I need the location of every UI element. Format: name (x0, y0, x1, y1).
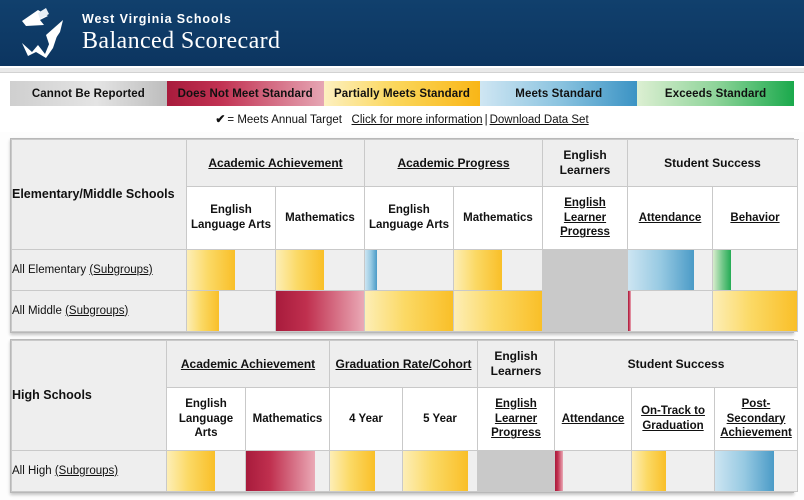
column-grad-4-year: 4 Year (330, 388, 403, 451)
cell-middle-attendance[interactable] (628, 291, 713, 332)
status-bar-partial (454, 291, 542, 331)
cell-middle-ela-progress[interactable] (365, 291, 454, 332)
checkmark-icon: ✔ (215, 112, 225, 126)
table-row: All Elementary (Subgroups) (12, 250, 798, 291)
column-math-progress: Mathematics (454, 187, 543, 250)
cell-elementary-ela-progress[interactable] (365, 250, 454, 291)
scorecard-page: West Virginia Schools Balanced Scorecard… (0, 0, 804, 500)
status-bar-partial (632, 451, 666, 491)
cell-elementary-ela-achievement[interactable] (187, 250, 276, 291)
elementary-middle-board: Elementary/Middle Schools Academic Achie… (10, 138, 794, 333)
high-schools-table: High Schools Academic Achievement Gradua… (11, 340, 798, 492)
status-bar-partial (713, 291, 797, 331)
column-english-learner-progress-hs[interactable]: English Learner Progress (478, 388, 555, 451)
status-bar-meets (628, 250, 694, 290)
status-bar-does-not-meet (555, 451, 563, 491)
column-ela-progress: English Language Arts (365, 187, 454, 250)
brand-subtitle: West Virginia Schools (82, 13, 280, 26)
legend-item-meets-standard[interactable]: Meets Standard (480, 81, 637, 106)
status-bar-does-not-meet (276, 291, 364, 331)
status-bar-partial (365, 291, 453, 331)
status-bar-meets (715, 451, 774, 491)
corner-title-high-schools: High Schools (12, 341, 167, 451)
cell-middle-english-learner-progress[interactable] (543, 291, 628, 332)
status-bar-exceeds (713, 250, 731, 290)
status-bar-meets (365, 250, 377, 290)
corner-title-elementary-middle: Elementary/Middle Schools (12, 140, 187, 250)
row-label-all-elementary: All Elementary (Subgroups) (12, 250, 187, 291)
cell-high-post-secondary-achievement[interactable] (715, 451, 798, 492)
group-academic-achievement[interactable]: Academic Achievement (187, 140, 365, 187)
row-label-all-high: All High (Subgroups) (12, 451, 167, 492)
download-data-set-link[interactable]: Download Data Set (490, 114, 589, 126)
column-math-achievement: Mathematics (276, 187, 365, 250)
cell-high-english-learner-progress[interactable] (478, 451, 555, 492)
cell-middle-behavior[interactable] (713, 291, 798, 332)
cell-high-grad-4-year[interactable] (330, 451, 403, 492)
column-behavior[interactable]: Behavior (713, 187, 798, 250)
row-label-all-middle: All Middle (Subgroups) (12, 291, 187, 332)
more-information-link[interactable]: Click for more information (352, 114, 483, 126)
group-graduation-rate-cohort[interactable]: Graduation Rate/Cohort (330, 341, 478, 388)
status-bar-does-not-meet (246, 451, 315, 491)
status-bar-partial (276, 250, 324, 290)
column-ela-achievement-hs: English Language Arts (167, 388, 246, 451)
column-attendance-hs[interactable]: Attendance (555, 388, 632, 451)
cell-high-math-achievement[interactable] (246, 451, 330, 492)
cell-elementary-math-achievement[interactable] (276, 250, 365, 291)
subgroups-link-elementary[interactable]: (Subgroups) (89, 264, 152, 276)
group-english-learners: English Learners (543, 140, 628, 187)
wv-schools-logo-icon (16, 7, 72, 59)
brand-text: West Virginia Schools Balanced Scorecard (82, 13, 280, 53)
cell-elementary-math-progress[interactable] (454, 250, 543, 291)
table-row: All High (Subgroups) (12, 451, 798, 492)
legend-item-exceeds-standard[interactable]: Exceeds Standard (637, 81, 794, 106)
cell-high-attendance[interactable] (555, 451, 632, 492)
status-bar-partial (187, 291, 219, 331)
column-grad-5-year: 5 Year (403, 388, 478, 451)
cell-high-grad-5-year[interactable] (403, 451, 478, 492)
legend-item-cannot-be-reported[interactable]: Cannot Be Reported (10, 81, 167, 106)
group-english-learners-hs: English Learners (478, 341, 555, 388)
column-ela-achievement: English Language Arts (187, 187, 276, 250)
cell-elementary-attendance[interactable] (628, 250, 713, 291)
subgroups-link-high[interactable]: (Subgroups) (55, 465, 118, 477)
column-on-track-to-graduation[interactable]: On-Track to Graduation (632, 388, 715, 451)
cell-middle-ela-achievement[interactable] (187, 291, 276, 332)
group-student-success: Student Success (628, 140, 798, 187)
column-english-learner-progress[interactable]: English Learner Progress (543, 187, 628, 250)
status-bar-partial (167, 451, 215, 491)
elementary-middle-table: Elementary/Middle Schools Academic Achie… (11, 139, 798, 332)
high-schools-board: High Schools Academic Achievement Gradua… (10, 339, 794, 493)
legend-note-separator: | (483, 114, 490, 126)
cell-elementary-behavior[interactable] (713, 250, 798, 291)
column-math-achievement-hs: Mathematics (246, 388, 330, 451)
group-academic-progress[interactable]: Academic Progress (365, 140, 543, 187)
status-bar-partial (454, 250, 502, 290)
table-row: All Middle (Subgroups) (12, 291, 798, 332)
site-header: West Virginia Schools Balanced Scorecard (0, 0, 804, 68)
legend-note: ✔= Meets Annual Target Click for more in… (10, 106, 794, 128)
cell-middle-math-progress[interactable] (454, 291, 543, 332)
table-group-header-row: High Schools Academic Achievement Gradua… (12, 341, 798, 388)
legend-item-partially-meets-standard[interactable]: Partially Meets Standard (324, 81, 481, 106)
status-bar-does-not-meet (628, 291, 631, 331)
cell-middle-math-achievement[interactable] (276, 291, 365, 332)
column-attendance[interactable]: Attendance (628, 187, 713, 250)
group-student-success-hs: Student Success (555, 341, 798, 388)
column-post-secondary-achievement[interactable]: Post-Secondary Achievement (715, 388, 798, 451)
brand-title: Balanced Scorecard (82, 29, 280, 53)
cell-high-ela-achievement[interactable] (167, 451, 246, 492)
subgroups-link-middle[interactable]: (Subgroups) (65, 305, 128, 317)
group-academic-achievement-hs[interactable]: Academic Achievement (167, 341, 330, 388)
annual-target-text: = Meets Annual Target (227, 114, 342, 126)
status-bar-partial (330, 451, 375, 491)
legend-bars: Cannot Be Reported Does Not Meet Standar… (10, 81, 794, 106)
legend: Cannot Be Reported Does Not Meet Standar… (0, 73, 804, 132)
legend-item-does-not-meet-standard[interactable]: Does Not Meet Standard (167, 81, 324, 106)
table-group-header-row: Elementary/Middle Schools Academic Achie… (12, 140, 798, 187)
status-bar-partial (187, 250, 235, 290)
cell-elementary-english-learner-progress[interactable] (543, 250, 628, 291)
cell-high-on-track-to-graduation[interactable] (632, 451, 715, 492)
status-bar-partial (403, 451, 468, 491)
